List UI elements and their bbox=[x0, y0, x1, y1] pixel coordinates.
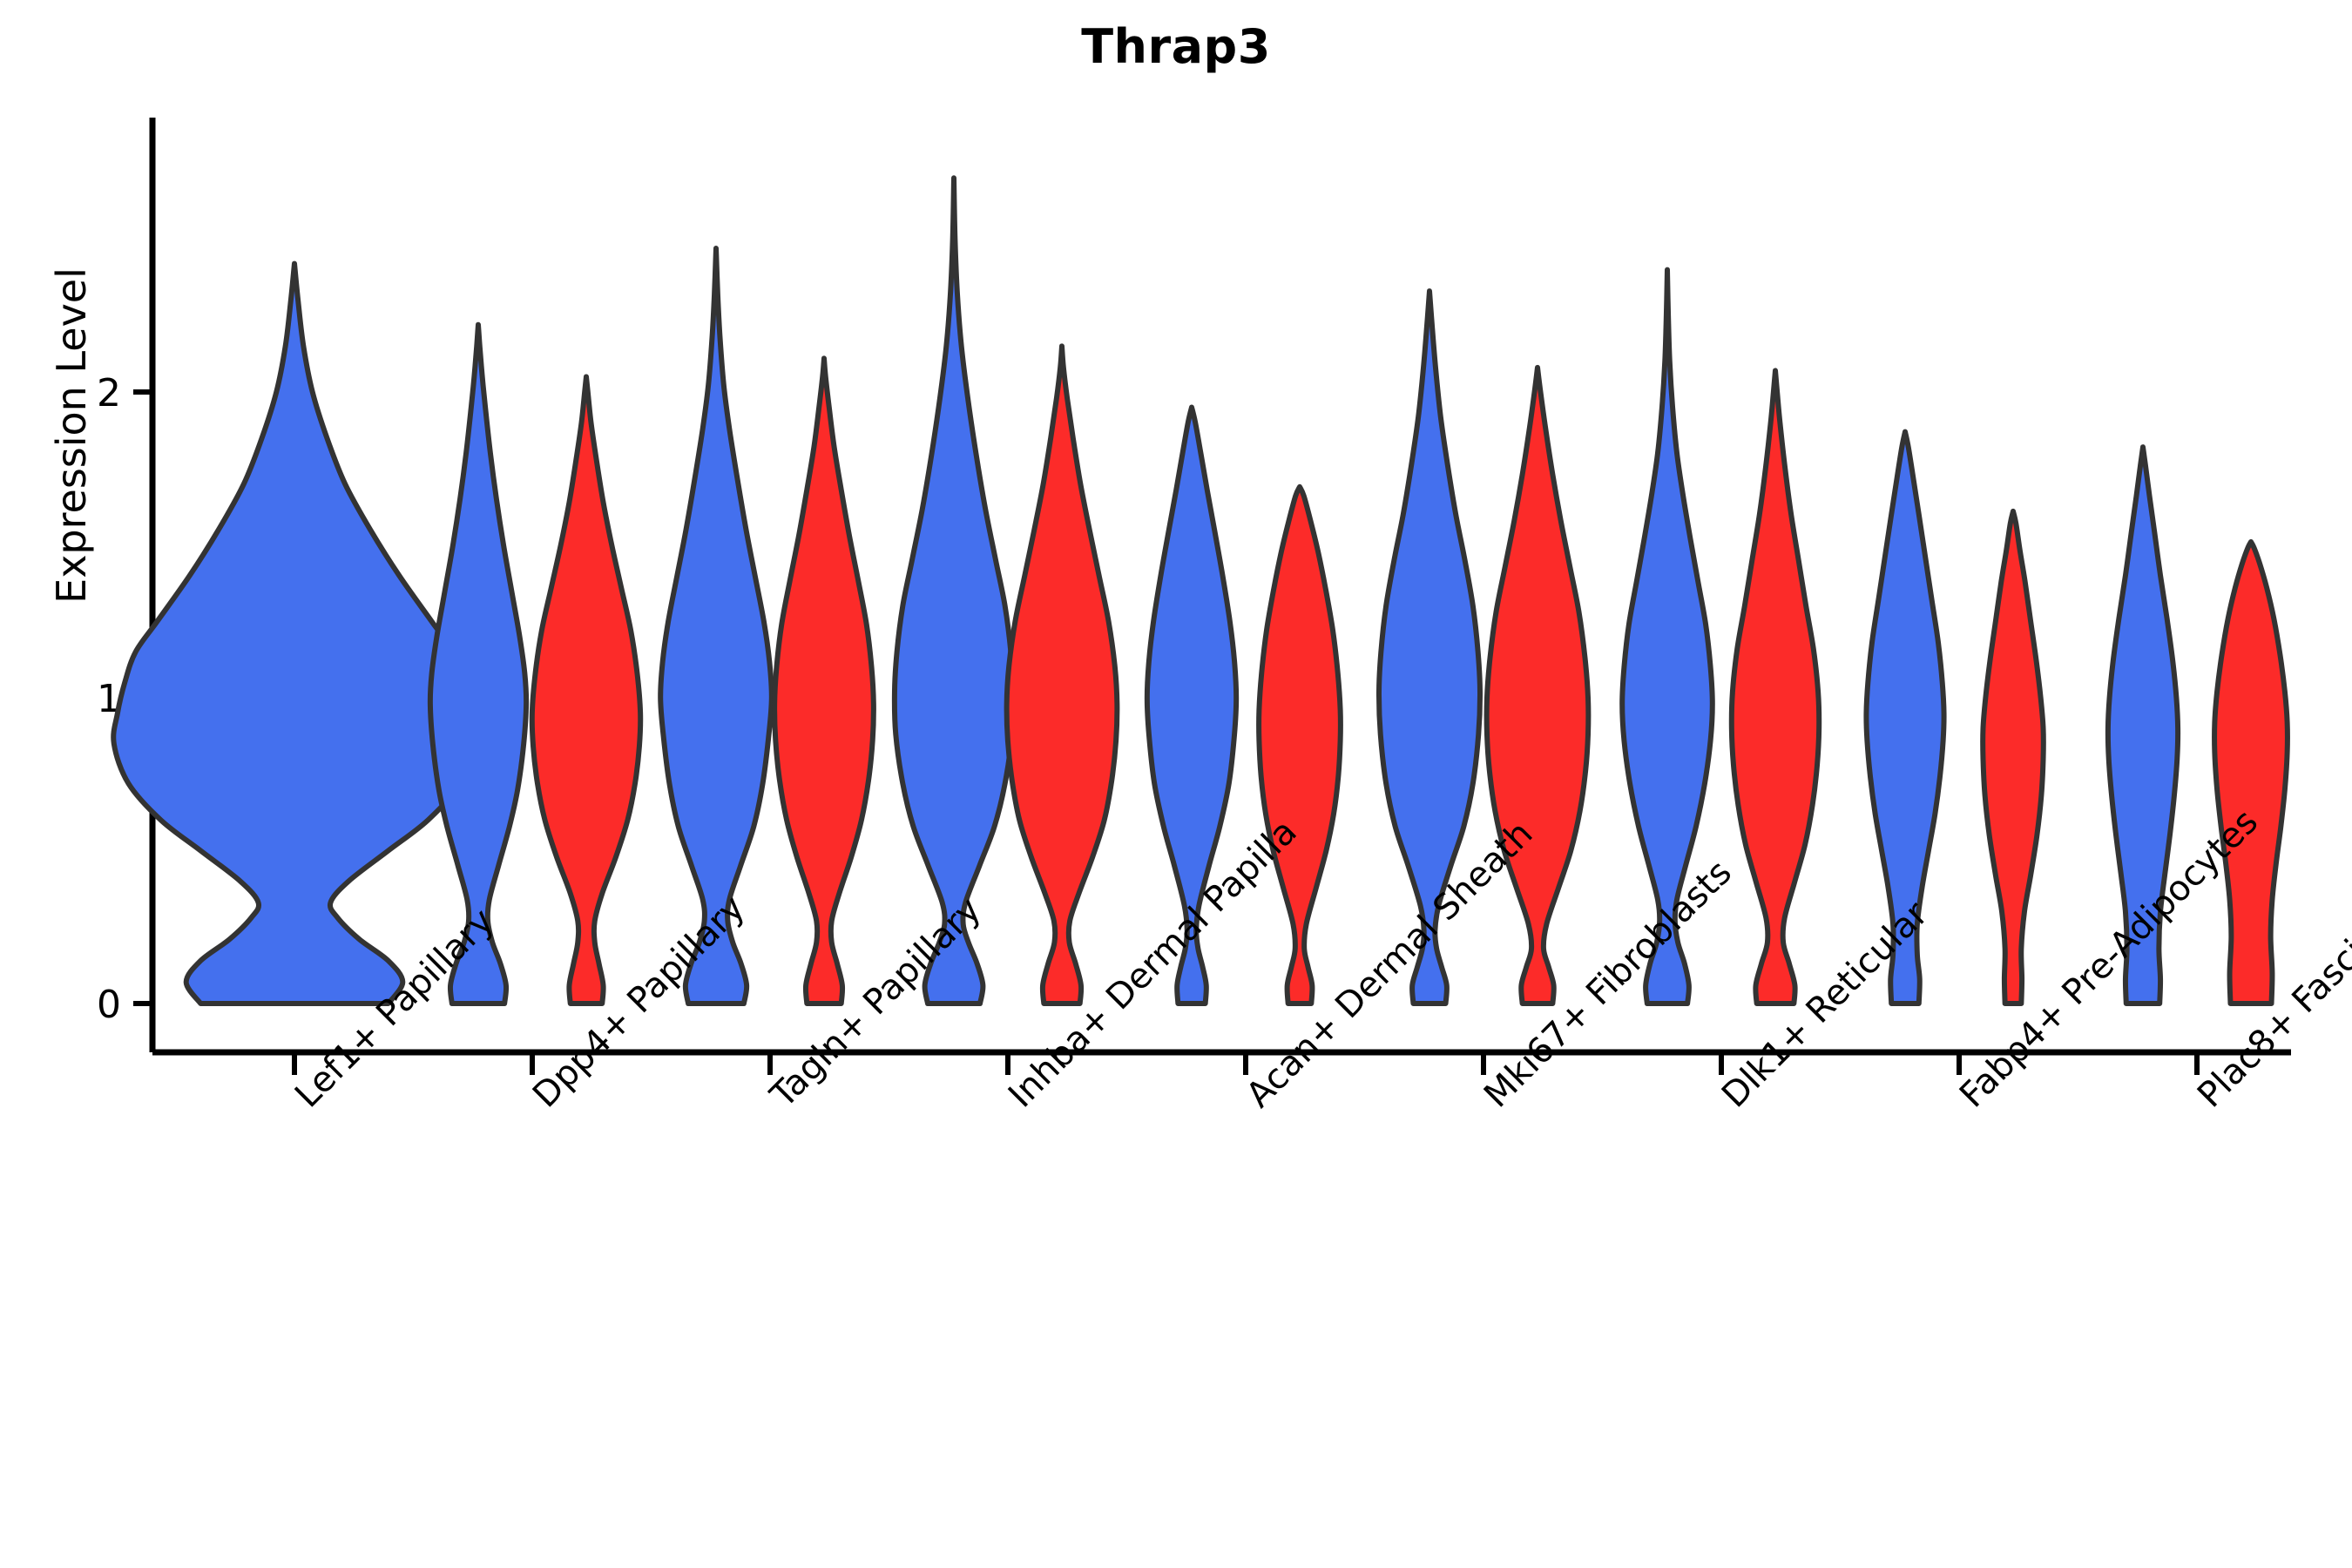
violin-blue-3 bbox=[895, 178, 1013, 1004]
violin-red-8 bbox=[2214, 542, 2288, 1004]
violin-red-1 bbox=[532, 376, 640, 1004]
violin-plot-figure: Thrap3 Expression Level 012 Lef1+ Papill… bbox=[0, 0, 2352, 1568]
violin-red-7 bbox=[1983, 511, 2044, 1004]
violin-red-6 bbox=[1732, 370, 1819, 1004]
plot-area: 012 Lef1+ PapillaryDpp4+ PapillaryTagln+… bbox=[0, 0, 2352, 1568]
violin-blue-7 bbox=[1866, 432, 1943, 1004]
violin-blue-6 bbox=[1622, 270, 1713, 1004]
violin-blue-5 bbox=[1379, 291, 1480, 1004]
violin-blue-8 bbox=[2108, 447, 2178, 1004]
violin-red-3 bbox=[1007, 346, 1118, 1004]
violin-blue-4 bbox=[1147, 408, 1236, 1004]
violin-red-2 bbox=[774, 358, 874, 1004]
violin-blue-2 bbox=[660, 248, 772, 1004]
violin-svg: 012 bbox=[0, 0, 2352, 1568]
violin-red-5 bbox=[1487, 368, 1589, 1004]
y-tick-label: 2 bbox=[97, 371, 121, 416]
y-tick-label: 0 bbox=[97, 983, 121, 1027]
violin-blue-0 bbox=[113, 264, 476, 1004]
violin-blue-1 bbox=[430, 325, 526, 1004]
violin-red-4 bbox=[1259, 487, 1341, 1004]
